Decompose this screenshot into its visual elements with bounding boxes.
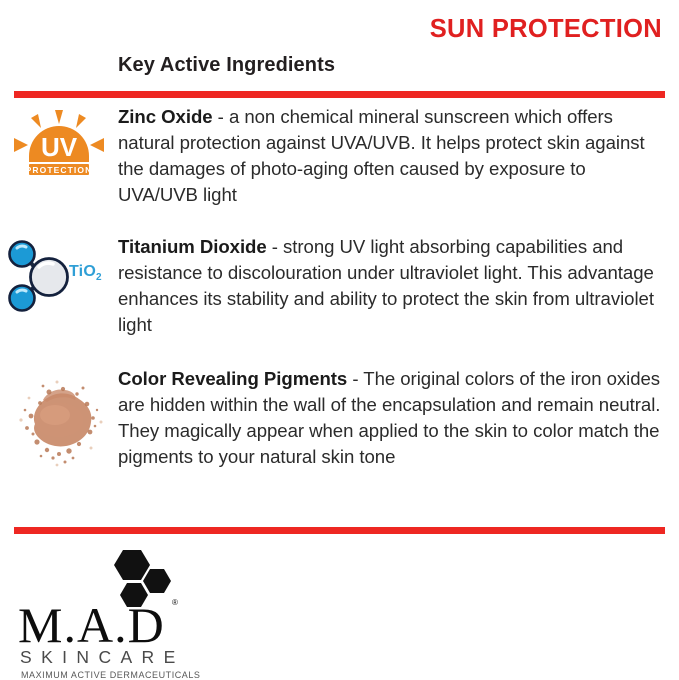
tio2-formula-main: TiO [69, 263, 96, 280]
brand-wordmark: M.A.D [18, 600, 165, 650]
uv-icon-sub-label: PROTECTION [26, 165, 93, 175]
ingredient-icon-cell: UV PROTECTION [0, 104, 118, 182]
tio2-formula-label: TiO2 [69, 263, 102, 283]
tio2-formula-sub: 2 [96, 272, 102, 283]
ingredient-separator: - [347, 368, 363, 389]
ingredient-text: Zinc Oxide - a non chemical mineral suns… [118, 104, 667, 208]
pigment-powder-icon [7, 370, 111, 470]
ingredient-name: Color Revealing Pigments [118, 368, 347, 389]
uv-icon-main-label: UV [41, 132, 78, 162]
ingredient-name: Zinc Oxide [118, 106, 213, 127]
ingredient-row-titanium-dioxide: TiO2 Titanium Dioxide - strong UV light … [0, 234, 679, 338]
ingredient-body: Color Revealing Pigments - The original … [118, 366, 679, 470]
ingredient-separator: - [267, 236, 283, 257]
registered-trademark-icon: ® [172, 598, 178, 607]
ingredient-text: Color Revealing Pigments - The original … [118, 366, 667, 470]
ingredient-body: Zinc Oxide - a non chemical mineral suns… [118, 104, 679, 208]
ingredient-row-zinc-oxide: UV PROTECTION Zinc Oxide - a non chemica… [0, 104, 679, 208]
molecule-svg [5, 240, 75, 314]
titanium-dioxide-molecule-icon: TiO2 [3, 238, 115, 316]
ingredient-row-color-revealing-pigments: Color Revealing Pigments - The original … [0, 366, 679, 470]
section-heading: Key Active Ingredients [118, 53, 335, 77]
ingredient-body: Titanium Dioxide - strong UV light absor… [118, 234, 679, 338]
ingredient-name: Titanium Dioxide [118, 236, 267, 257]
divider-bottom [14, 527, 665, 534]
brand-subtitle: SKINCARE [20, 647, 185, 668]
ingredient-separator: - [213, 106, 229, 127]
ingredient-icon-cell: TiO2 [0, 234, 118, 316]
divider-top [14, 91, 665, 98]
brand-logo: M.A.D ® SKINCARE MAXIMUM ACTIVE DERMACEU… [14, 548, 224, 668]
uv-protection-sun-icon: UV PROTECTION [11, 108, 107, 182]
sun-protection-infographic: SUN PROTECTION Key Active Ingredients [0, 0, 679, 679]
ingredient-text: Titanium Dioxide - strong UV light absor… [118, 234, 667, 338]
page-title: SUN PROTECTION [430, 17, 662, 43]
ingredient-icon-cell [0, 366, 118, 470]
